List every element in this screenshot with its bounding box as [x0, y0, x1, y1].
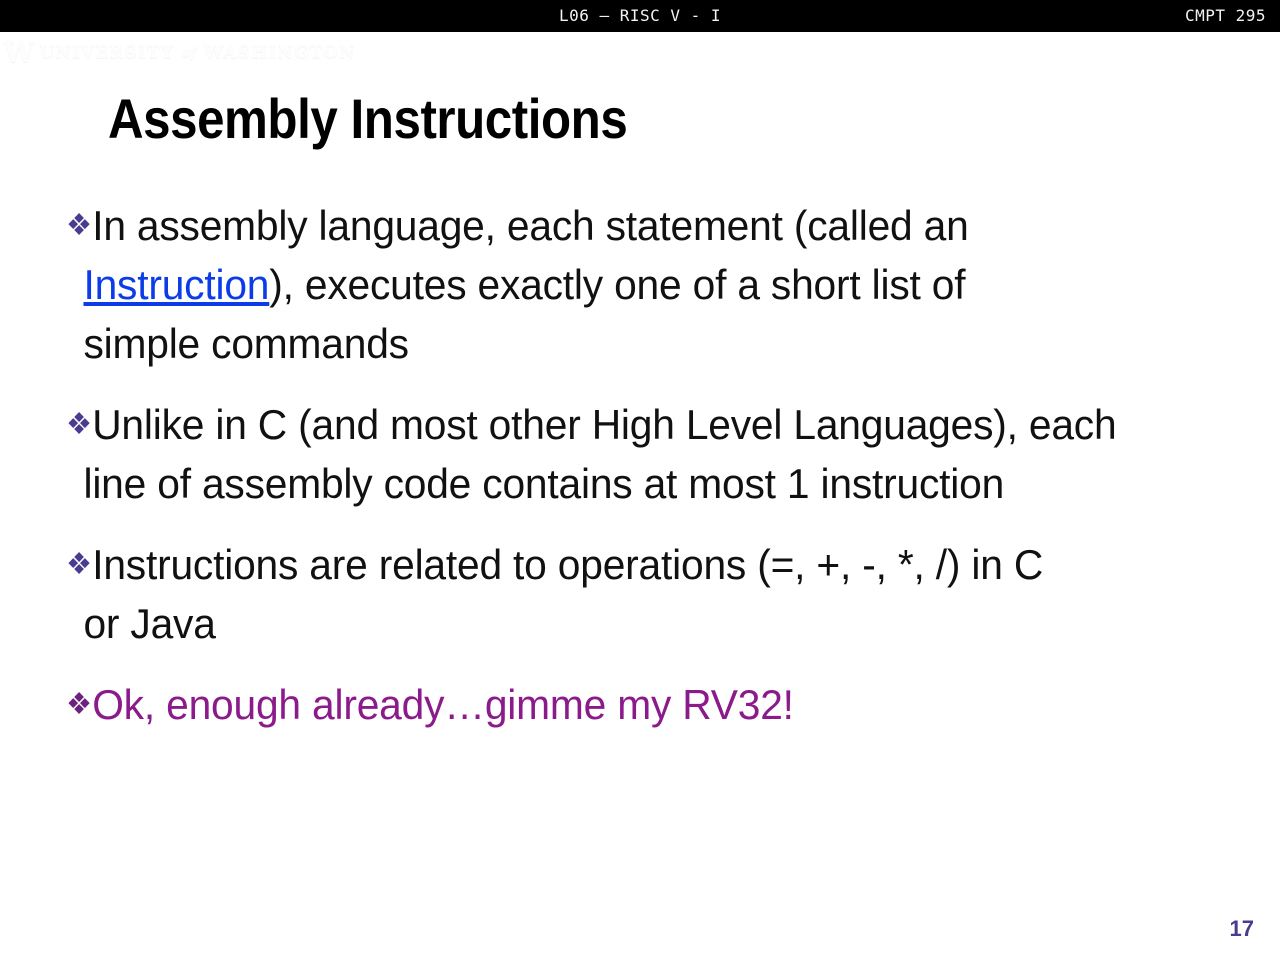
- bullet-text: Instructions are related to operations (…: [92, 541, 1043, 588]
- uw-washington-label: WASHINGTON: [204, 45, 356, 62]
- bullet-text: or Java: [83, 600, 215, 647]
- slide-header-bar: L06 — RISC V - I CMPT 295: [0, 0, 1280, 32]
- course-code: CMPT 295: [1185, 0, 1266, 32]
- instruction-link[interactable]: Instruction: [83, 261, 269, 308]
- bullet-text: Unlike in C (and most other High Level L…: [92, 401, 1116, 448]
- bullet-line: ❖Unlike in C (and most other High Level …: [66, 395, 1220, 454]
- bullet-line: ❖Instructions are related to operations …: [66, 535, 1220, 594]
- uw-university-label: UNIVERSITY: [39, 45, 174, 62]
- page-number: 17: [1230, 916, 1254, 942]
- uw-logo-watermark: W UNIVERSITY of WASHINGTON: [4, 38, 356, 68]
- bullet-operations: ❖Instructions are related to operations …: [66, 535, 1256, 653]
- bullet-rv32-callout: ❖Ok, enough already…gimme my RV32!: [66, 675, 1256, 734]
- bullet-assembly-statement: ❖In assembly language, each statement (c…: [66, 196, 1256, 373]
- bullet-text: In assembly language, each statement (ca…: [92, 202, 968, 249]
- bullet-line: simple commands: [66, 314, 1220, 373]
- bullet-line: ❖In assembly language, each statement (c…: [66, 196, 1220, 255]
- bullet-text: Ok, enough already…gimme my RV32!: [92, 681, 794, 728]
- bullet-text: ), executes exactly one of a short list …: [269, 261, 965, 308]
- bullet-line: Instruction), executes exactly one of a …: [66, 255, 1220, 314]
- bullet-line: ❖Ok, enough already…gimme my RV32!: [66, 675, 1220, 734]
- diamond-bullet-icon: ❖: [66, 675, 91, 734]
- uw-w-mark-icon: W: [4, 40, 31, 67]
- lecture-title: L06 — RISC V - I: [0, 0, 1280, 32]
- slide-body-bullets: ❖In assembly language, each statement (c…: [66, 196, 1256, 744]
- bullet-line: line of assembly code contains at most 1…: [66, 454, 1220, 513]
- diamond-bullet-icon: ❖: [66, 395, 91, 454]
- uw-of-label: of: [182, 47, 196, 60]
- diamond-bullet-icon: ❖: [66, 196, 91, 255]
- bullet-line: or Java: [66, 594, 1220, 653]
- bullet-text: line of assembly code contains at most 1…: [83, 460, 1004, 507]
- bullet-one-instruction-per-line: ❖Unlike in C (and most other High Level …: [66, 395, 1256, 513]
- diamond-bullet-icon: ❖: [66, 535, 91, 594]
- page-title: Assembly Instructions: [108, 88, 627, 150]
- bullet-text: simple commands: [83, 320, 408, 367]
